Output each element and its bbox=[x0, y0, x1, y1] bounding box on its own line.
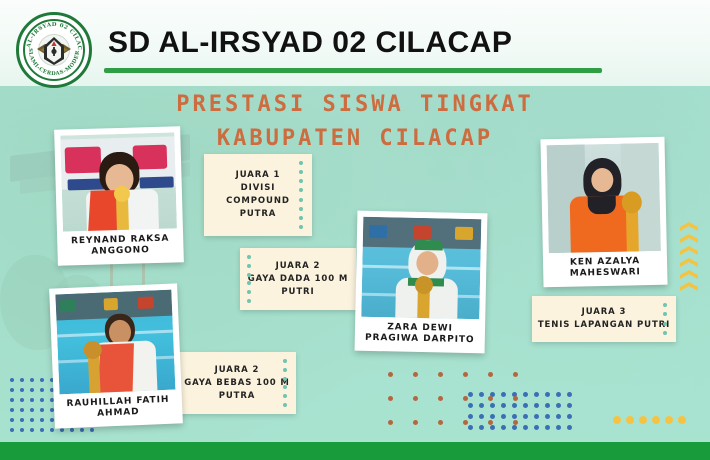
note-line: JUARA 2 bbox=[240, 260, 356, 273]
chevron-arrows-icon bbox=[680, 222, 698, 294]
student-photo-reynand bbox=[60, 132, 177, 231]
student-caption-zara: ZARA DEWI PRAGIWA DARPITO bbox=[361, 317, 480, 353]
gold-dot-row-decor bbox=[613, 416, 686, 424]
student-caption-ken: KEN AZALYA MAHESWARI bbox=[549, 251, 662, 287]
note-line: JUARA 3 bbox=[532, 306, 676, 319]
page-title: SD AL-IRSYAD 02 CILACAP bbox=[108, 26, 512, 60]
student-caption-rauhillah: RAUHILLAH FATIH AHMAD bbox=[60, 390, 177, 429]
note-dots-icon bbox=[663, 303, 669, 335]
student-card-reynand[interactable]: REYNAND RAKSA ANGGONO bbox=[54, 126, 184, 265]
note-line: GAYA DADA 100 M bbox=[240, 273, 356, 286]
heading-line-1: PRESTASI SISWA TINGKAT bbox=[0, 88, 710, 122]
note-line: COMPOUND bbox=[204, 195, 312, 208]
student-photo-ken bbox=[547, 143, 661, 253]
note-line: TENIS LAPANGAN PUTRI bbox=[532, 319, 676, 332]
school-logo-emblem: SD AL-IRSYAD 02 CILACAP ISLAMI-CERDAS-MO… bbox=[16, 12, 92, 88]
note-line: PUTRI bbox=[240, 286, 356, 299]
note-dots-icon bbox=[299, 161, 305, 229]
bottom-green-bar bbox=[0, 442, 710, 460]
poster-canvas: SD AL-IRSYAD 02 CILACAP ISLAMI-CERDAS-MO… bbox=[0, 0, 710, 460]
student-card-rauhillah[interactable]: RAUHILLAH FATIH AHMAD bbox=[49, 283, 183, 428]
student-photo-zara bbox=[361, 217, 481, 319]
student-photo-rauhillah bbox=[55, 290, 175, 395]
note-line: GAYA BEBAS 100 M bbox=[178, 377, 296, 390]
rust-dot-scatter bbox=[388, 372, 538, 444]
note-line: DIVISI bbox=[204, 182, 312, 195]
achievement-note-freestyle[interactable]: JUARA 2 GAYA BEBAS 100 M PUTRA bbox=[178, 352, 296, 414]
school-logo: SD AL-IRSYAD 02 CILACAP ISLAMI-CERDAS-MO… bbox=[16, 12, 92, 88]
note-line: PUTRA bbox=[204, 208, 312, 221]
achievement-note-archery[interactable]: JUARA 1 DIVISI COMPOUND PUTRA bbox=[204, 154, 312, 236]
student-card-ken[interactable]: KEN AZALYA MAHESWARI bbox=[540, 137, 667, 288]
achievement-note-tennis[interactable]: JUARA 3 TENIS LAPANGAN PUTRI bbox=[532, 296, 676, 342]
note-dots-icon bbox=[247, 255, 253, 303]
student-caption-reynand: REYNAND RAKSA ANGGONO bbox=[63, 228, 178, 265]
note-line: JUARA 1 bbox=[204, 169, 312, 182]
header-divider bbox=[104, 68, 602, 73]
note-line: PUTRA bbox=[178, 390, 296, 403]
achievement-note-breaststroke[interactable]: JUARA 2 GAYA DADA 100 M PUTRI bbox=[240, 248, 356, 310]
note-dots-icon bbox=[283, 359, 289, 407]
note-line: JUARA 2 bbox=[178, 364, 296, 377]
student-card-zara[interactable]: ZARA DEWI PRAGIWA DARPITO bbox=[355, 211, 488, 354]
